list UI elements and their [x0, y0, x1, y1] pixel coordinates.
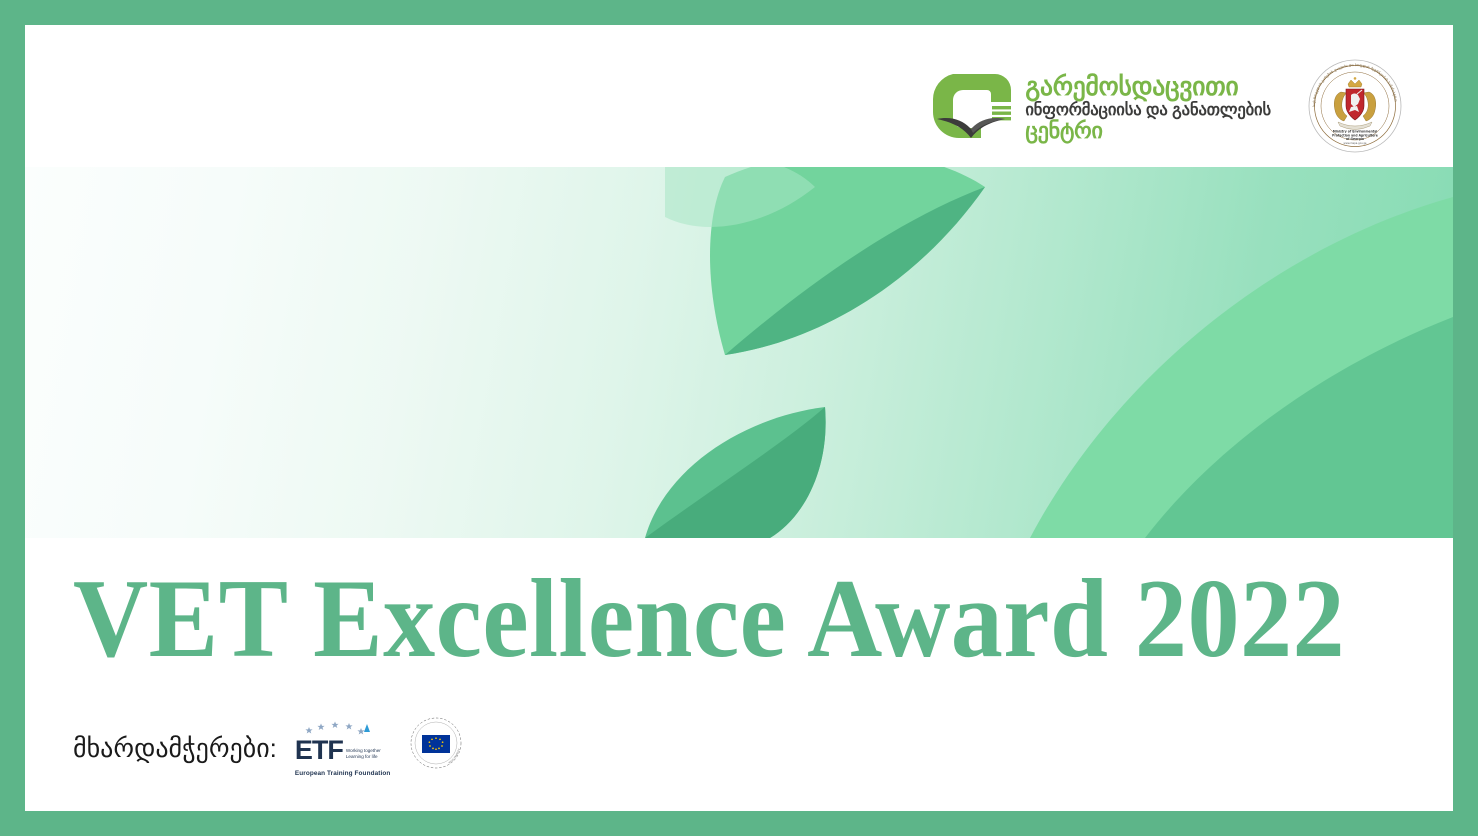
european-union-flag-badge-icon: European Union: [409, 716, 463, 775]
etf-tagline: Working together Learning for life: [346, 748, 381, 762]
supporters-label: მხარდამჭერები:: [73, 733, 277, 764]
header-logo-strip: გარემოსდაცვითი ინფორმაციისა და განათლები…: [25, 25, 1453, 167]
hero-banner: [25, 167, 1453, 538]
eiec-logo-text: გარემოსდაცვითი ინფორმაციისა და განათლები…: [1025, 74, 1271, 142]
eiec-logo: გარემოსდაცვითი ინფორმაციისა და განათლები…: [929, 70, 1271, 148]
eiec-logo-line1: გარემოსდაცვითი: [1025, 74, 1271, 100]
etf-logo-icon: ETF Working together Learning for life E…: [295, 719, 391, 777]
ministry-seal-icon: საქართველოს გარემოს დაცვისა და სოფლის მე…: [1307, 58, 1403, 159]
logo-cluster: გარემოსდაცვითი ინფორმაციისა და განათლები…: [929, 58, 1403, 159]
etf-full-name: European Training Foundation: [295, 770, 390, 777]
eiec-leaf-book-logo-icon: [929, 70, 1015, 148]
leaf-decorations: [25, 167, 1453, 538]
poster-frame: გარემოსდაცვითი ინფორმაციისა და განათლები…: [0, 0, 1478, 836]
title-area: VET Excellence Award 2022 მხარდამჭერები:: [25, 538, 1453, 811]
svg-text:of Georgia: of Georgia: [1346, 137, 1364, 141]
leaf-lower: [645, 407, 826, 538]
poster-page: გარემოსდაცვითი ინფორმაციისა და განათლები…: [25, 25, 1453, 811]
etf-wordmark: ETF: [295, 738, 343, 762]
svg-text:www.mepa.gov.ge: www.mepa.gov.ge: [1344, 142, 1367, 145]
supporters-row: მხარდამჭერები: ETF: [73, 719, 463, 777]
eiec-logo-line3: ცენტრი: [1025, 120, 1271, 142]
eiec-logo-line2: ინფორმაციისა და განათლების: [1025, 102, 1271, 119]
page-title: VET Excellence Award 2022: [73, 561, 1345, 679]
